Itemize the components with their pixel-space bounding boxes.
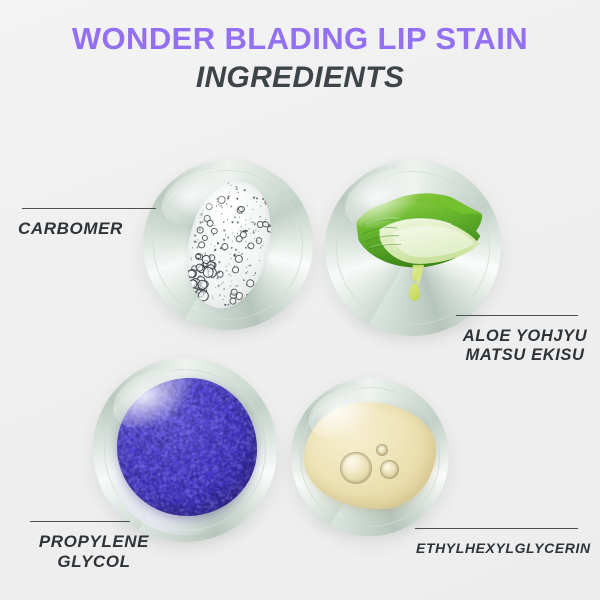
- leader-line-propylene-glycol: [30, 521, 130, 522]
- ingredients-infographic: WONDER BLADING LIP STAIN INGREDIENTS: [0, 0, 600, 600]
- liquid-bubble: [341, 453, 371, 483]
- gel-bubble: [255, 237, 263, 245]
- gel-bubble: [212, 298, 214, 300]
- gel-bubble: [229, 253, 230, 254]
- gel-bubble: [252, 231, 254, 233]
- gel-bubble: [227, 304, 229, 306]
- ingredient-label-ethylhexylglycerin: ETHYLHEXYLGLYCERIN: [416, 540, 591, 556]
- page-subtitle: INGREDIENTS: [0, 61, 600, 94]
- gel-bubble: [243, 189, 245, 191]
- gel-bubble: [227, 237, 229, 239]
- gel-bubble: [222, 239, 225, 242]
- gel-bubble: [241, 253, 242, 254]
- gel-bubble: [224, 250, 225, 251]
- petri-dish-aloe: [325, 160, 501, 336]
- gel-bubble: [260, 247, 262, 249]
- gel-bubble: [255, 230, 257, 232]
- gel-bubble: [222, 250, 223, 251]
- gel-bubble: [218, 285, 220, 287]
- gel-bubble: [224, 296, 225, 297]
- gel-bubble: [197, 239, 198, 240]
- gel-bubble: [232, 233, 233, 234]
- gel-bubble: [235, 235, 244, 244]
- gel-bubble: [223, 230, 225, 232]
- gel-bubble: [232, 281, 233, 282]
- gel-bubble: [217, 243, 219, 245]
- gel-bubble: [223, 221, 225, 223]
- gel-bubble: [248, 265, 250, 267]
- gel-bubble: [247, 206, 248, 207]
- gel-bubble: [219, 295, 221, 297]
- gel-bubble: [230, 285, 231, 286]
- gel-bubble: [230, 258, 231, 259]
- gel-bubble: [235, 286, 236, 287]
- gel-bubble: [226, 266, 227, 267]
- gel-bubble: [224, 304, 226, 306]
- gel-bubble: [231, 247, 233, 249]
- petri-dish-ethylhexylglycerin: [291, 378, 449, 536]
- gel-bubble: [246, 268, 247, 269]
- gel-bubble: [259, 216, 261, 218]
- gel-bubble: [223, 300, 224, 301]
- gel-bubble: [241, 227, 242, 228]
- gel-bubble: [216, 277, 218, 279]
- gel-bubble: [256, 201, 258, 203]
- gel-bubble: [210, 244, 211, 245]
- page-title: WONDER BLADING LIP STAIN: [0, 22, 600, 56]
- gel-bubble: [222, 281, 223, 282]
- gel-bubble: [250, 233, 251, 234]
- gel-bubble: [232, 222, 234, 224]
- gel-bubble: [247, 272, 248, 273]
- petri-dish-propylene-glycol: [93, 358, 277, 542]
- gel-bubble: [260, 206, 261, 207]
- gel-bubble: [234, 216, 236, 218]
- gel-bubble: [226, 270, 228, 272]
- gel-bubble: [213, 235, 214, 236]
- gel-bubble: [259, 260, 260, 261]
- gel-bubble: [249, 219, 251, 221]
- gel-bubble: [253, 223, 256, 226]
- gel-bubble: [228, 264, 229, 265]
- gel-bubble: [235, 249, 237, 251]
- ingredient-label-propylene-glycol: PROPYLENE GLYCOL: [24, 532, 164, 571]
- gel-bubble: [248, 229, 249, 230]
- gel-bubble: [243, 280, 245, 282]
- gel-bubble: [246, 259, 248, 261]
- gel-bubble: [262, 199, 263, 200]
- gel-bubble: [253, 275, 254, 276]
- petri-dish-carbomer: [143, 160, 313, 330]
- gel-bubble: [239, 217, 240, 218]
- gel-bubble: [245, 225, 246, 226]
- gel-bubble: [230, 275, 231, 276]
- gel-bubble: [191, 260, 192, 261]
- leader-line-ethylhexylglycerin: [415, 528, 578, 529]
- gel-bubble: [210, 227, 218, 235]
- gel-bubble: [215, 288, 216, 289]
- gel-bubble: [238, 252, 239, 253]
- gel-bubble: [218, 262, 221, 265]
- gel-bubble: [197, 241, 205, 249]
- liquid-bubble: [381, 461, 398, 478]
- gel-bubble: [245, 220, 246, 221]
- gel-bubble: [232, 241, 233, 242]
- gel-bubble: [254, 273, 255, 274]
- gel-bubble: [262, 245, 263, 246]
- gel-bubble: [252, 209, 254, 211]
- gel-bubble: [245, 273, 247, 275]
- gel-bubble: [256, 197, 259, 200]
- gel-bubble: [213, 226, 214, 227]
- gel-bubble: [258, 231, 259, 232]
- gel-bubble: [231, 266, 239, 274]
- gel-bubble: [196, 226, 205, 235]
- gel-bubble: [223, 288, 226, 291]
- gel-bubble: [253, 197, 255, 199]
- gel-bubble: [236, 286, 238, 288]
- gel-bubble: [194, 241, 197, 244]
- gel-bubble: [194, 235, 197, 238]
- ingredient-label-carbomer: CARBOMER: [18, 219, 123, 239]
- gel-bubble: [221, 284, 222, 285]
- header: WONDER BLADING LIP STAIN INGREDIENTS: [0, 22, 600, 94]
- gel-bubble: [214, 246, 215, 247]
- gel-bubble: [225, 236, 226, 237]
- leader-line-aloe: [456, 315, 578, 316]
- gel-bubble: [247, 242, 256, 251]
- gel-bubble: [245, 241, 247, 243]
- liquid-bubble: [377, 445, 387, 455]
- leader-line-carbomer: [22, 208, 156, 209]
- gel-bubble: [226, 219, 227, 220]
- gel-bubble: [237, 233, 238, 234]
- gel-bubble: [192, 248, 193, 249]
- ingredient-label-aloe: ALOE YOHJYU MATSU EKISU: [455, 327, 595, 365]
- gel-bubble: [225, 234, 226, 235]
